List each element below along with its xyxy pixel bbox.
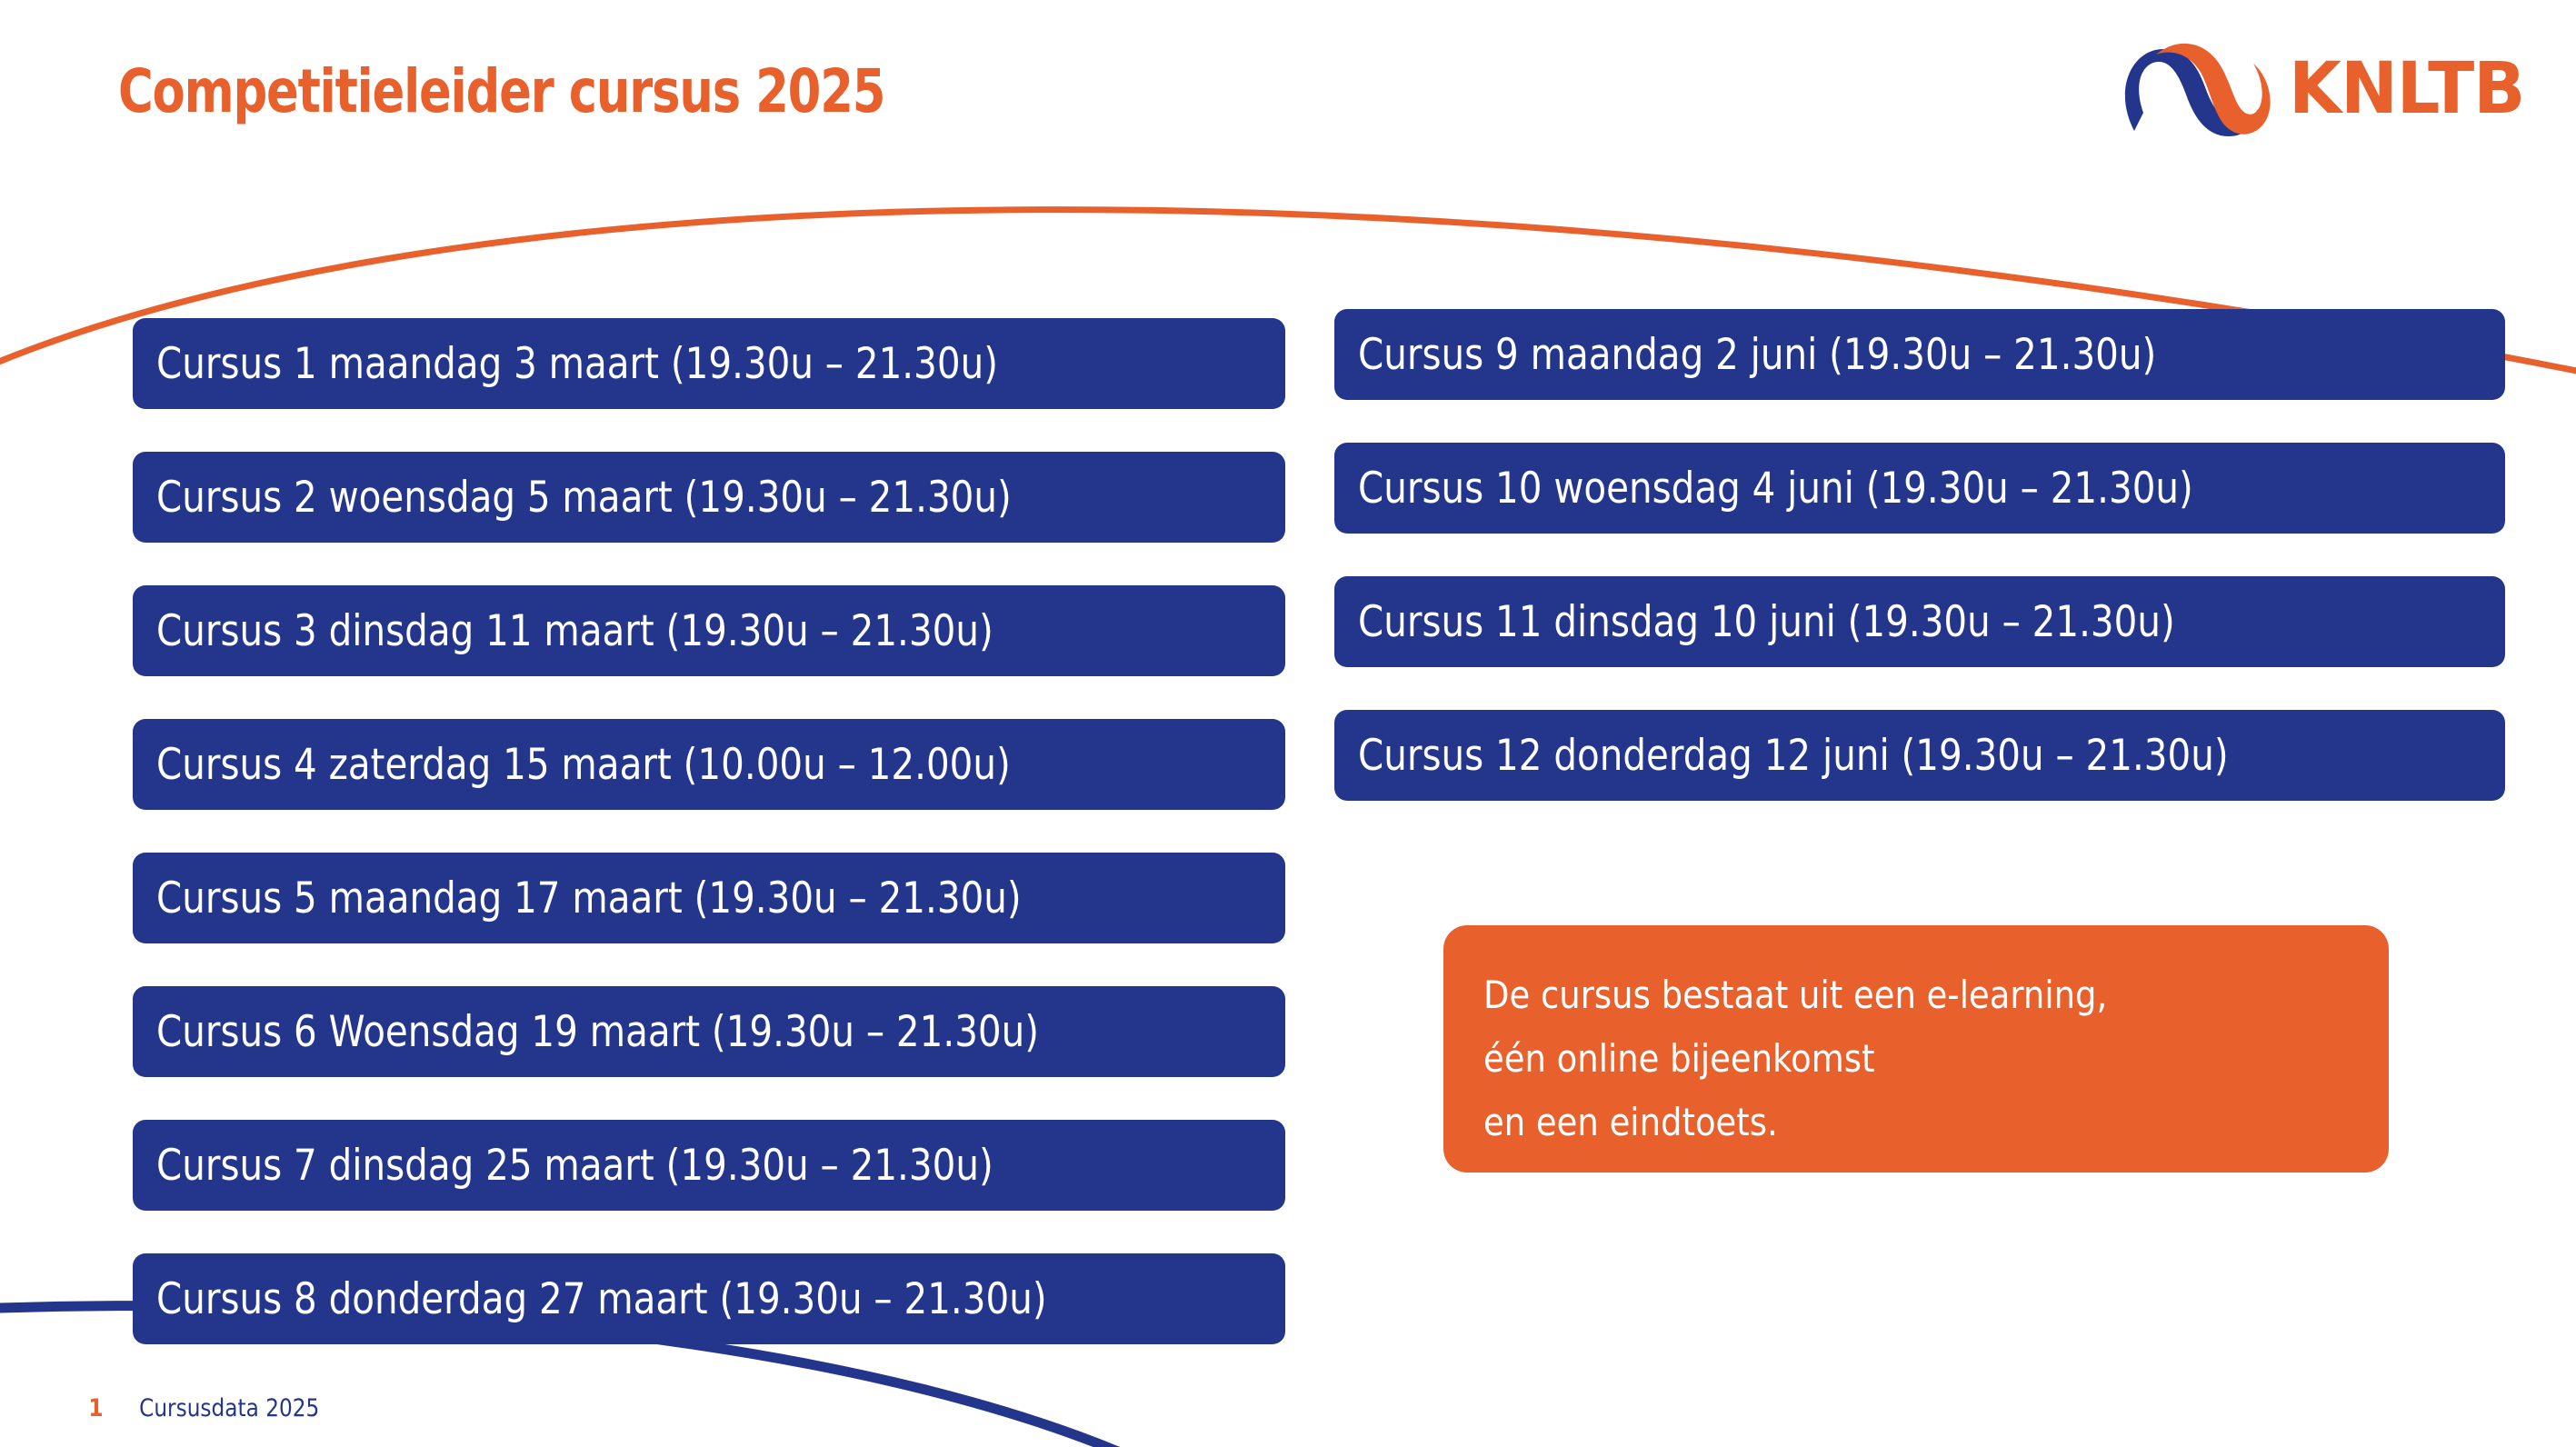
course-label: Cursus 4 zaterdag 15 maart (10.00u – 12.… xyxy=(156,743,1011,786)
slide-canvas: Competitieleider cursus 2025 KNLTB Cursu… xyxy=(0,0,2576,1447)
course-label: Cursus 1 maandag 3 maart (19.30u – 21.30… xyxy=(156,343,998,385)
course-list-left: Cursus 1 maandag 3 maart (19.30u – 21.30… xyxy=(133,318,1285,1387)
course-box-2[interactable]: Cursus 2 woensdag 5 maart (19.30u – 21.3… xyxy=(133,452,1285,543)
logo-wordmark: KNLTB xyxy=(2289,54,2524,125)
info-note-line-2: één online bijeenkomst xyxy=(1483,1040,2280,1078)
course-box-11[interactable]: Cursus 11 dinsdag 10 juni (19.30u – 21.3… xyxy=(1334,576,2505,667)
footer: 1 Cursusdata 2025 xyxy=(87,1394,334,1422)
course-label: Cursus 9 maandag 2 juni (19.30u – 21.30u… xyxy=(1358,334,2156,376)
course-label: Cursus 2 woensdag 5 maart (19.30u – 21.3… xyxy=(156,476,1012,519)
course-box-4[interactable]: Cursus 4 zaterdag 15 maart (10.00u – 12.… xyxy=(133,719,1285,810)
knltb-logo: KNLTB xyxy=(2107,33,2534,145)
course-box-7[interactable]: Cursus 7 dinsdag 25 maart (19.30u – 21.3… xyxy=(133,1120,1285,1211)
course-label: Cursus 3 dinsdag 11 maart (19.30u – 21.3… xyxy=(156,610,993,653)
course-box-5[interactable]: Cursus 5 maandag 17 maart (19.30u – 21.3… xyxy=(133,853,1285,943)
course-box-12[interactable]: Cursus 12 donderdag 12 juni (19.30u – 21… xyxy=(1334,710,2505,801)
course-box-3[interactable]: Cursus 3 dinsdag 11 maart (19.30u – 21.3… xyxy=(133,585,1285,676)
course-box-6[interactable]: Cursus 6 Woensdag 19 maart (19.30u – 21.… xyxy=(133,986,1285,1077)
page-number: 1 xyxy=(88,1394,103,1422)
course-label: Cursus 12 donderdag 12 juni (19.30u – 21… xyxy=(1358,734,2229,777)
course-label: Cursus 7 dinsdag 25 maart (19.30u – 21.3… xyxy=(156,1144,993,1187)
info-note: De cursus bestaat uit een e-learning, éé… xyxy=(1443,925,2389,1173)
course-label: Cursus 8 donderdag 27 maart (19.30u – 21… xyxy=(156,1278,1047,1321)
info-note-line-1: De cursus bestaat uit een e-learning, xyxy=(1483,976,2280,1014)
course-box-9[interactable]: Cursus 9 maandag 2 juni (19.30u – 21.30u… xyxy=(1334,309,2505,400)
info-note-line-3: en een eindtoets. xyxy=(1483,1103,2280,1142)
page-title: Competitieleider cursus 2025 xyxy=(118,56,884,126)
course-list-right: Cursus 9 maandag 2 juni (19.30u – 21.30u… xyxy=(1334,309,2505,843)
course-label: Cursus 6 Woensdag 19 maart (19.30u – 21.… xyxy=(156,1011,1039,1053)
course-box-1[interactable]: Cursus 1 maandag 3 maart (19.30u – 21.30… xyxy=(133,318,1285,409)
course-box-8[interactable]: Cursus 8 donderdag 27 maart (19.30u – 21… xyxy=(133,1253,1285,1344)
knltb-swoosh-icon xyxy=(2120,35,2283,144)
course-label: Cursus 10 woensdag 4 juni (19.30u – 21.3… xyxy=(1358,467,2193,510)
course-box-10[interactable]: Cursus 10 woensdag 4 juni (19.30u – 21.3… xyxy=(1334,443,2505,534)
course-label: Cursus 5 maandag 17 maart (19.30u – 21.3… xyxy=(156,877,1022,920)
course-label: Cursus 11 dinsdag 10 juni (19.30u – 21.3… xyxy=(1358,601,2175,644)
footer-label: Cursusdata 2025 xyxy=(139,1394,319,1422)
